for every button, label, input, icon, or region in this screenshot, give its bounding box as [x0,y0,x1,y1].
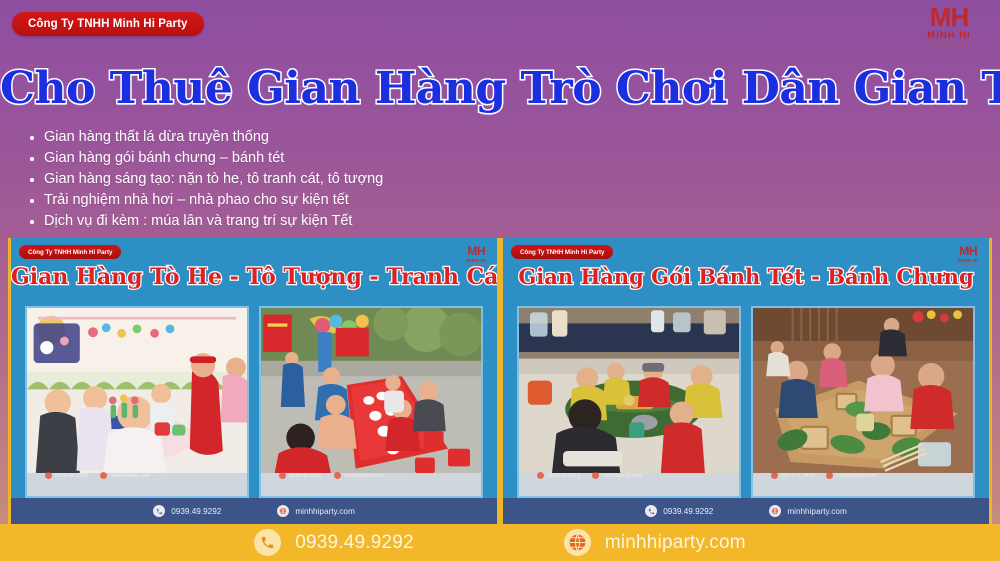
footer-contact-bar: 0939.49.9292 minhhiparty.com [0,524,1000,561]
photo-watermark: 093.779.3413 minhhiparty.com [771,472,960,479]
card-contact-bar: 0939.49.9292 minhhiparty.com [503,498,989,524]
photo-to-he-workshop: 0939.49.9292 minhhiparty.com [25,306,249,498]
logo-monogram: MH [959,245,977,257]
globe-icon [592,472,599,479]
card-phone: 0939.49.9292 [645,505,713,517]
card-to-he: Công Ty TNHH Minh Hi Party MH MINH HI TỔ… [8,238,500,524]
phone-icon [537,472,544,479]
phone-icon [254,529,281,556]
logo-tagline: TỔ CHỨC SỰ KIỆN [464,264,488,267]
service-list: Gian hàng thất lá dừa truyền thống Gian … [28,128,383,233]
logo-monogram: MH [467,245,485,257]
logo-name: MINH HI [912,31,986,41]
list-item: Gian hàng thất lá dừa truyền thống [28,128,383,148]
phone-icon [279,472,286,479]
list-item: Dịch vụ đi kèm : múa lân và trang trí sự… [28,212,383,232]
logo-monogram: MH [930,4,968,30]
photo-watermark: 093.779.3413 minhhiparty.com [537,472,726,479]
page-title: Cho Thuê Gian Hàng Trò Chơi Dân Gian Tết [0,63,1000,114]
photo-to-tuong-outdoor: 0939.49.9292 minhhiparty.com [259,306,483,498]
company-badge: Công Ty TNHH Minh Hi Party [12,12,204,36]
card-phone: 0939.49.9292 [153,505,221,517]
globe-icon [100,472,107,479]
logo-tagline: TỔ CHỨC SỰ KIỆN [912,42,986,47]
card-title: Gian Hàng Tò He - Tô Tượng - Tranh Cát [11,264,497,290]
globe-icon [277,505,289,517]
brand-logo: MH MINH HI TỔ CHỨC SỰ KIỆN [912,4,986,60]
photo-illustration [519,308,739,473]
card-phone-text: 0939.49.9292 [663,507,713,516]
card-title: Gian Hàng Gói Bánh Tét - Bánh Chưng [503,264,989,289]
card-banh-tet: Công Ty TNHH Minh Hi Party MH MINH HI TỔ… [500,238,992,524]
card-contact-bar: 0939.49.9292 minhhiparty.com [11,498,497,524]
list-item: Gian hàng sáng tạo: nặn tò he, tô tranh … [28,170,383,190]
card-brand-logo: MH MINH HI TỔ CHỨC SỰ KIỆN [464,243,488,266]
card-website-text: minhhiparty.com [787,507,846,516]
card-brand-logo: MH MINH HI TỔ CHỨC SỰ KIỆN [956,243,980,266]
card-website: minhhiparty.com [277,505,354,517]
phone-icon [645,505,657,517]
card-website: minhhiparty.com [769,505,846,517]
footer-phone[interactable]: 0939.49.9292 [254,529,414,556]
logo-tagline: TỔ CHỨC SỰ KIỆN [956,264,980,267]
list-item: Trải nghiệm nhà hơi – nhà phao cho sự ki… [28,191,383,211]
footer-website-text: minhhiparty.com [605,532,746,554]
card-phone-text: 0939.49.9292 [171,507,221,516]
globe-icon [769,505,781,517]
phone-icon [771,472,778,479]
card-company-badge: Công Ty TNHH Minh Hi Party [511,245,613,259]
photo-watermark: 0939.49.9292 minhhiparty.com [45,472,234,479]
poster-canvas: Công Ty TNHH Minh Hi Party MH MINH HI TỔ… [0,0,1000,561]
card-photos: 093.779.3413 minhhiparty.com [503,308,989,496]
phone-icon [45,472,52,479]
photo-banh-tet-family: 093.779.3413 minhhiparty.com [751,306,975,498]
phone-icon [153,505,165,517]
card-photos: 0939.49.9292 minhhiparty.com [11,308,497,496]
card-website-text: minhhiparty.com [295,507,354,516]
photo-illustration [753,308,973,473]
photo-watermark: 0939.49.9292 minhhiparty.com [279,472,468,479]
footer-website[interactable]: minhhiparty.com [564,529,746,556]
globe-icon [564,529,591,556]
photo-illustration [27,308,247,473]
card-strip: Công Ty TNHH Minh Hi Party MH MINH HI TỔ… [8,238,992,524]
globe-icon [826,472,833,479]
card-company-badge: Công Ty TNHH Minh Hi Party [19,245,121,259]
list-item: Gian hàng gói bánh chưng – bánh tét [28,149,383,169]
photo-banh-chung-group: 093.779.3413 minhhiparty.com [517,306,741,498]
globe-icon [334,472,341,479]
photo-illustration [261,308,481,473]
footer-phone-text: 0939.49.9292 [295,532,414,554]
